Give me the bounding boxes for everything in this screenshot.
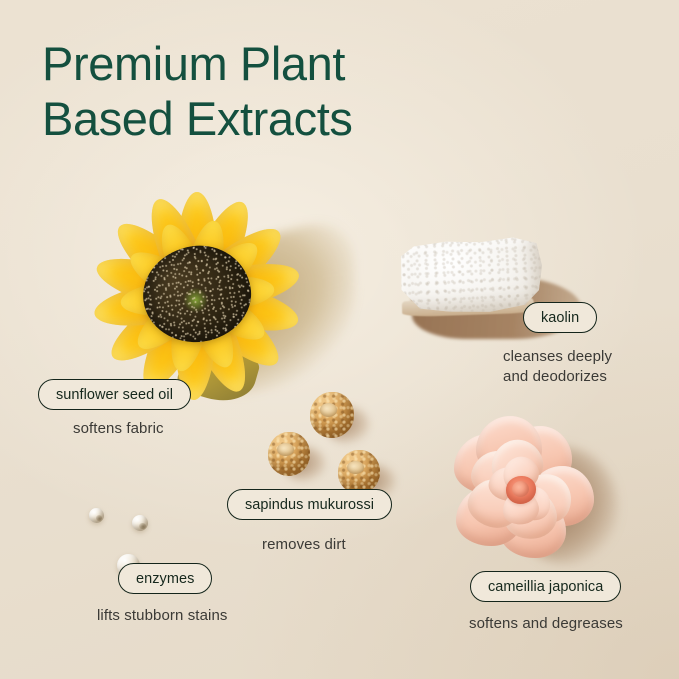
caption-kaolin: cleanses deeply and deodorizes [503, 347, 612, 387]
sunflower-image [72, 188, 322, 403]
soap-nut [268, 432, 310, 476]
enzyme-bead [89, 508, 104, 523]
soap-nut-hilum [320, 403, 338, 417]
label-enzymes[interactable]: enzymes [118, 563, 212, 594]
soap-nut [338, 450, 380, 494]
label-cameillia-japonica[interactable]: cameillia japonica [470, 571, 621, 602]
caption-sunflower-seed-oil: softens fabric [73, 419, 164, 439]
ingredient-poster: Premium Plant Based Extracts [0, 0, 679, 679]
caption-cameillia-japonica: softens and degreases [469, 614, 623, 634]
label-sunflower-seed-oil[interactable]: sunflower seed oil [38, 379, 191, 410]
soap-nut-hilum [277, 443, 294, 456]
page-title: Premium Plant Based Extracts [42, 36, 472, 147]
label-sapindus-mukurossi[interactable]: sapindus mukurossi [227, 489, 392, 520]
sunflower-seed-disc [137, 238, 257, 348]
soap-nuts-image [268, 390, 398, 500]
enzyme-bead [132, 515, 148, 531]
soap-nut-hilum [347, 461, 364, 474]
label-kaolin[interactable]: kaolin [523, 302, 597, 333]
camellia-image [432, 410, 610, 570]
caption-sapindus-mukurossi: removes dirt [262, 535, 346, 555]
caption-enzymes: lifts stubborn stains [97, 606, 228, 626]
soap-nut [310, 392, 354, 438]
